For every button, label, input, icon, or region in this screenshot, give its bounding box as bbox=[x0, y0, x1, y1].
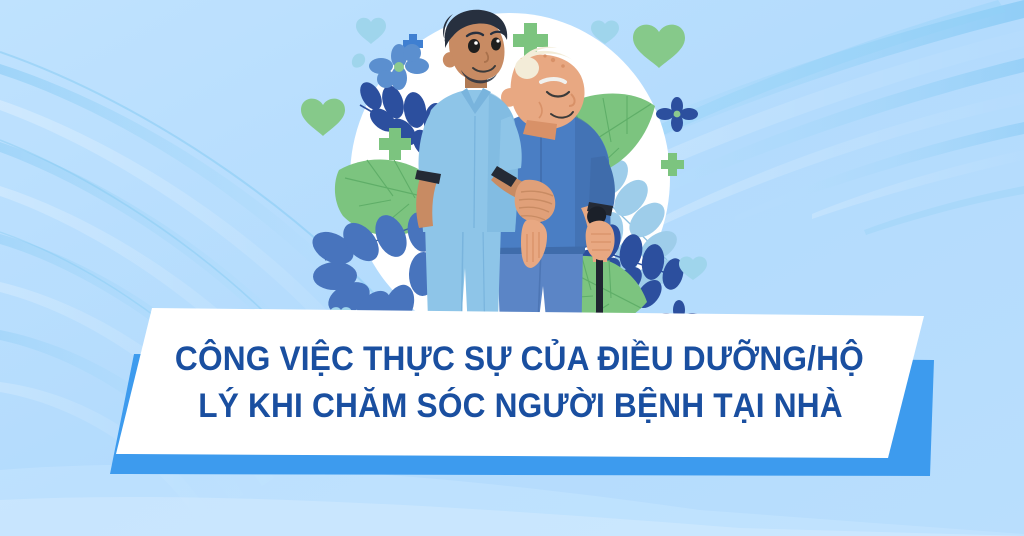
green-heart-icon-left bbox=[301, 99, 345, 136]
blue-heart-icon-right bbox=[679, 257, 707, 280]
banner-card bbox=[116, 308, 924, 458]
blue-flower-right bbox=[656, 97, 698, 132]
nurse-eye-right bbox=[491, 38, 501, 51]
title-banner: CÔNG VIỆC THỰC SỰ CỦA ĐIỀU DƯỠNG/HỘ LÝ K… bbox=[96, 308, 936, 480]
nurse-eye-left bbox=[468, 39, 480, 53]
blue-heart-icon-topleft bbox=[356, 18, 386, 44]
blue-petal-icon bbox=[352, 53, 365, 67]
poster-canvas: CÔNG VIỆC THỰC SỰ CỦA ĐIỀU DƯỠNG/HỘ LÝ K… bbox=[0, 0, 1024, 536]
caregiving-illustration bbox=[275, 10, 745, 350]
banner-shapes bbox=[96, 308, 936, 480]
green-heart-icon-right bbox=[633, 25, 685, 68]
